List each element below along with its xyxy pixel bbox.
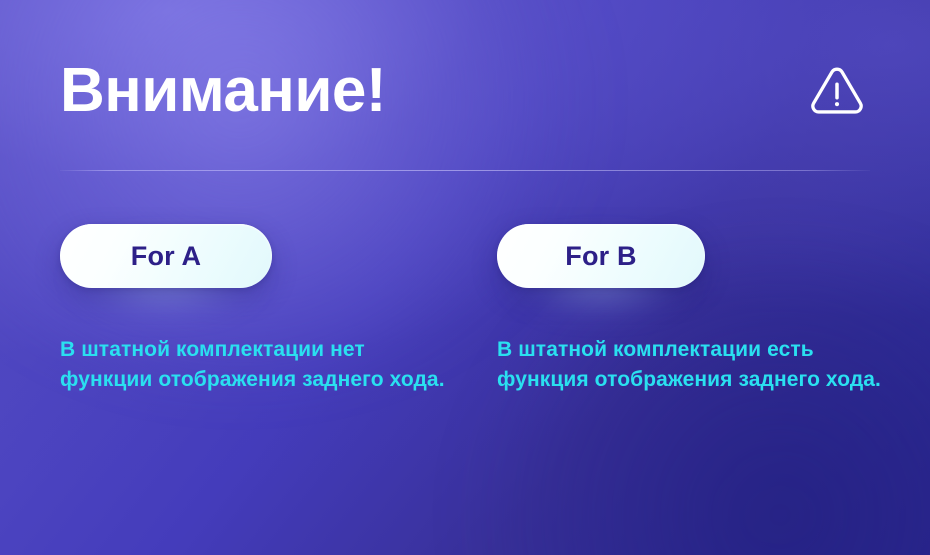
column-for-b: For B В штатной комплектации есть функци… [497, 224, 930, 395]
pill-button-for-a[interactable]: For A [60, 224, 272, 288]
pill-label-for-b: For B [565, 243, 637, 270]
slide-header: Внимание! [60, 48, 872, 134]
description-for-b: В штатной комплектации есть функция отоб… [497, 335, 891, 395]
column-for-a: For A В штатной комплектации нет функции… [60, 224, 497, 395]
pill-button-for-b[interactable]: For B [497, 224, 705, 288]
warning-triangle-icon [806, 60, 868, 122]
warning-slide: Внимание! For A В штатной комплектации н… [0, 0, 930, 555]
pill-label-for-a: For A [131, 243, 202, 270]
pill-wrapper-a: For A [60, 224, 272, 288]
description-for-a: В штатной комплектации нет функции отобр… [60, 335, 452, 395]
header-divider [60, 170, 870, 171]
page-title: Внимание! [60, 60, 386, 122]
comparison-columns: For A В штатной комплектации нет функции… [60, 224, 890, 395]
pill-wrapper-b: For B [497, 224, 705, 288]
